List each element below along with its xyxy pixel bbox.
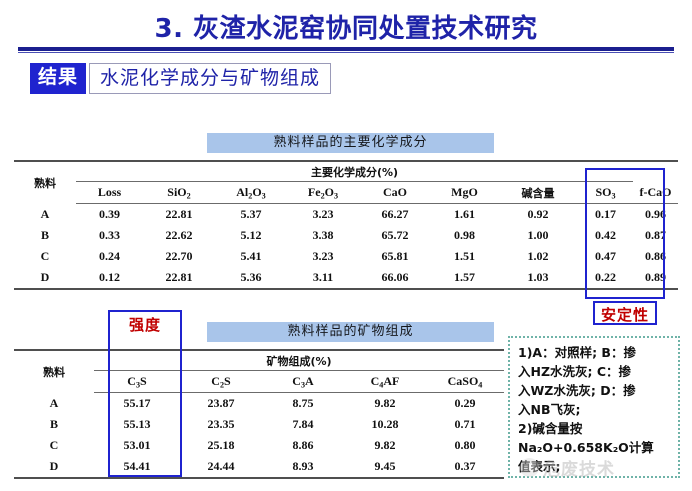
chem-cell: 1.00 — [498, 225, 578, 246]
chem-cell: 5.36 — [215, 267, 287, 289]
chem-cell-fcao: 0.86 — [633, 246, 678, 267]
footnote-line: 1)A：对照样; B：掺 — [518, 343, 672, 362]
chem-row-label: C — [14, 246, 76, 267]
table-row: B 0.33 22.62 5.12 3.38 65.72 0.98 1.00 0… — [14, 225, 678, 246]
table-row: A 0.39 22.81 5.37 3.23 66.27 1.61 0.92 0… — [14, 204, 678, 226]
mineral-col-c3a: C3A — [262, 371, 344, 393]
footnote-line: 入NB飞灰; — [518, 400, 672, 419]
chem-column-header-row: Loss SiO2 Al2O3 Fe2O3 CaO MgO 碱含量 SO3 f-… — [14, 182, 678, 204]
chem-cell: 0.39 — [76, 204, 143, 226]
chem-row-label: B — [14, 225, 76, 246]
mineral-cell: 25.18 — [180, 435, 262, 456]
mineral-cell: 8.75 — [262, 393, 344, 415]
chem-cell: 3.23 — [287, 246, 359, 267]
chem-col-loss: Loss — [76, 182, 143, 204]
page-title: 3. 灰渣水泥窑协同处置技术研究 — [0, 8, 692, 45]
chem-cell: 1.02 — [498, 246, 578, 267]
chem-cell: 1.57 — [431, 267, 498, 289]
chem-cell: 65.72 — [359, 225, 431, 246]
chem-cell-fcao: 0.87 — [633, 225, 678, 246]
chem-col-so3: SO3 — [578, 182, 633, 204]
footnote-line: Na₂O+0.658K₂O计算 — [518, 438, 672, 457]
result-badge-row: 结果 水泥化学成分与矿物组成 — [30, 63, 331, 94]
mineral-row-label: C — [14, 435, 94, 456]
table-row: D 54.41 24.44 8.93 9.45 0.37 — [14, 456, 504, 478]
footnote-line: 2)碱含量按 — [518, 419, 672, 438]
chem-cell: 65.81 — [359, 246, 431, 267]
chem-table-banner: 熟料样品的主要化学成分 — [207, 133, 494, 153]
result-badge: 结果 — [30, 63, 86, 94]
table-row: C 53.01 25.18 8.86 9.82 0.80 — [14, 435, 504, 456]
mineral-rowheader-cell: 熟料 — [14, 350, 94, 393]
mineral-cell-c3s: 55.17 — [94, 393, 180, 415]
chem-col-alkali: 碱含量 — [498, 182, 578, 204]
chem-col-mgo: MgO — [431, 182, 498, 204]
chem-cell: 0.33 — [76, 225, 143, 246]
mineral-cell-c3s: 53.01 — [94, 435, 180, 456]
chem-col-fcao: f-CaO — [633, 182, 678, 204]
chemical-composition-table: 熟料 主要化学成分(%) Loss SiO2 Al2O3 Fe2O3 CaO M… — [14, 160, 678, 290]
mineral-col-c2s: C2S — [180, 371, 262, 393]
chem-cell: 0.42 — [578, 225, 633, 246]
chem-cell-fcao: 0.89 — [633, 267, 678, 289]
table-row: B 55.13 23.35 7.84 10.28 0.71 — [14, 414, 504, 435]
stability-label: 安定性 — [593, 301, 657, 325]
mineral-cell: 0.37 — [426, 456, 504, 478]
footnote-line: 入HZ水洗灰; C：掺 — [518, 362, 672, 381]
mineral-cell: 10.28 — [344, 414, 426, 435]
chem-cell: 1.51 — [431, 246, 498, 267]
chem-col-fe2o3: Fe2O3 — [287, 182, 359, 204]
chem-row-label: A — [14, 204, 76, 226]
chem-cell: 1.61 — [431, 204, 498, 226]
chem-group-header-spacer — [633, 161, 678, 182]
chem-cell: 0.47 — [578, 246, 633, 267]
mineral-composition-table: 熟料 矿物组成(%) C3S C2S C3A C4AF CaSO4 A 55.1… — [14, 349, 504, 479]
mineral-cell: 0.80 — [426, 435, 504, 456]
chem-cell: 22.81 — [143, 204, 215, 226]
chem-col-cao: CaO — [359, 182, 431, 204]
chem-col-al2o3: Al2O3 — [215, 182, 287, 204]
chem-cell: 1.03 — [498, 267, 578, 289]
strength-label: 强度 — [110, 313, 180, 337]
chem-cell: 66.27 — [359, 204, 431, 226]
footnote-line: 入WZ水洗灰; D：掺 — [518, 381, 672, 400]
table-row: A 55.17 23.87 8.75 9.82 0.29 — [14, 393, 504, 415]
mineral-cell: 9.45 — [344, 456, 426, 478]
chem-cell: 22.62 — [143, 225, 215, 246]
mineral-col-caso4: CaSO4 — [426, 371, 504, 393]
mineral-row-label: A — [14, 393, 94, 415]
mineral-cell: 9.82 — [344, 393, 426, 415]
chem-cell: 0.98 — [431, 225, 498, 246]
footnote-box: 1)A：对照样; B：掺 入HZ水洗灰; C：掺 入WZ水洗灰; D：掺 入NB… — [508, 336, 680, 478]
chem-cell: 0.17 — [578, 204, 633, 226]
chem-col-sio2: SiO2 — [143, 182, 215, 204]
mineral-cell: 24.44 — [180, 456, 262, 478]
chem-cell: 3.38 — [287, 225, 359, 246]
chem-cell: 5.12 — [215, 225, 287, 246]
mineral-cell-c3s: 54.41 — [94, 456, 180, 478]
mineral-table-banner: 熟料样品的矿物组成 — [207, 322, 494, 342]
chem-rowheader-cell: 熟料 — [14, 161, 76, 204]
mineral-col-c3s: C3S — [94, 371, 180, 393]
chem-cell: 0.92 — [498, 204, 578, 226]
chem-cell: 0.24 — [76, 246, 143, 267]
chem-cell: 66.06 — [359, 267, 431, 289]
mineral-cell: 8.93 — [262, 456, 344, 478]
result-badge-caption: 水泥化学成分与矿物组成 — [89, 63, 331, 94]
mineral-cell: 23.87 — [180, 393, 262, 415]
mineral-cell: 7.84 — [262, 414, 344, 435]
chem-group-header-row: 熟料 主要化学成分(%) — [14, 161, 678, 182]
title-divider-thin — [18, 52, 674, 53]
table-row: C 0.24 22.70 5.41 3.23 65.81 1.51 1.02 0… — [14, 246, 678, 267]
mineral-row-label: D — [14, 456, 94, 478]
chem-cell: 5.41 — [215, 246, 287, 267]
mineral-group-header: 矿物组成(%) — [94, 350, 504, 371]
mineral-cell: 8.86 — [262, 435, 344, 456]
mineral-cell: 0.29 — [426, 393, 504, 415]
footnote-line: 值表示; — [518, 457, 672, 476]
chem-group-header: 主要化学成分(%) — [76, 161, 633, 182]
mineral-col-c4af: C4AF — [344, 371, 426, 393]
chem-cell: 3.23 — [287, 204, 359, 226]
chem-cell-fcao: 0.96 — [633, 204, 678, 226]
table-row: D 0.12 22.81 5.36 3.11 66.06 1.57 1.03 0… — [14, 267, 678, 289]
chem-cell: 22.70 — [143, 246, 215, 267]
mineral-cell: 23.35 — [180, 414, 262, 435]
mineral-cell: 9.82 — [344, 435, 426, 456]
chem-cell: 0.22 — [578, 267, 633, 289]
chem-cell: 22.81 — [143, 267, 215, 289]
mineral-cell-c3s: 55.13 — [94, 414, 180, 435]
mineral-group-header-row: 熟料 矿物组成(%) — [14, 350, 504, 371]
chem-cell: 3.11 — [287, 267, 359, 289]
mineral-row-label: B — [14, 414, 94, 435]
chem-cell: 0.12 — [76, 267, 143, 289]
mineral-cell: 0.71 — [426, 414, 504, 435]
title-divider — [18, 47, 674, 51]
chem-cell: 5.37 — [215, 204, 287, 226]
chem-row-label: D — [14, 267, 76, 289]
